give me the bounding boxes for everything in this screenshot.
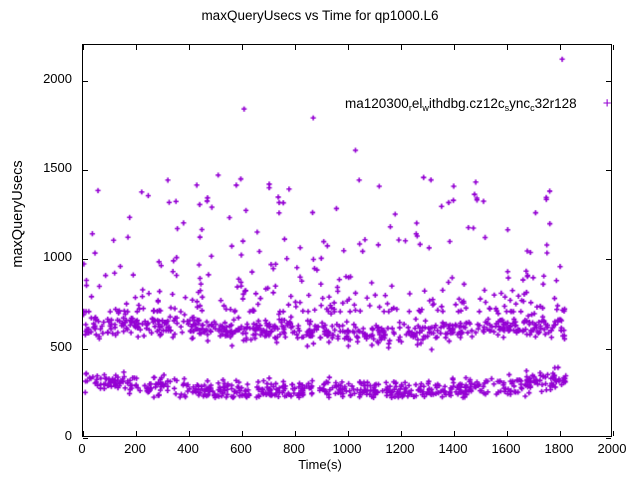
x-tick [242, 431, 243, 436]
x-tick-top [189, 45, 190, 50]
legend-marker-plus-icon: + [603, 96, 612, 111]
x-tick-label: 800 [264, 441, 324, 456]
x-tick-top [348, 45, 349, 50]
y-tick-right [606, 81, 611, 82]
x-tick-label: 200 [105, 441, 165, 456]
x-axis-title: Time(s) [0, 457, 640, 472]
x-tick-label: 1800 [529, 441, 589, 456]
plot-area: ma120300relwithdbg.cz12csyncc32r128 + [82, 44, 612, 437]
y-tick-right [606, 438, 611, 439]
y-tick-label: 0 [12, 428, 72, 443]
legend-series-label: ma120300relwithdbg.cz12csyncc32r128 [345, 96, 577, 111]
x-tick [454, 431, 455, 436]
y-tick-right [606, 259, 611, 260]
y-tick [83, 170, 88, 171]
chart-title: maxQueryUsecs vs Time for qp1000.L6 [0, 8, 640, 23]
y-tick-right [606, 349, 611, 350]
y-tick [83, 259, 88, 260]
x-tick [295, 431, 296, 436]
y-tick-label: 1500 [12, 160, 72, 175]
x-tick-top [295, 45, 296, 50]
x-tick-top [401, 45, 402, 50]
y-tick [83, 438, 88, 439]
x-tick-top [242, 45, 243, 50]
x-tick [83, 431, 84, 436]
y-tick-label: 2000 [12, 71, 72, 86]
x-tick [136, 431, 137, 436]
y-axis-title: maxQueryUsecs [10, 134, 26, 294]
x-tick-label: 1000 [317, 441, 377, 456]
x-tick-top [454, 45, 455, 50]
legend: ma120300relwithdbg.cz12csyncc32r128 + [345, 93, 611, 113]
y-tick [83, 349, 88, 350]
x-tick [560, 431, 561, 436]
x-tick-label: 2000 [582, 441, 640, 456]
y-tick-right [606, 170, 611, 171]
x-tick-label: 1600 [476, 441, 536, 456]
x-tick-top [83, 45, 84, 50]
y-tick [83, 81, 88, 82]
x-tick-top [136, 45, 137, 50]
x-tick-label: 1200 [370, 441, 430, 456]
x-tick-label: 1400 [423, 441, 483, 456]
chart-root: maxQueryUsecs vs Time for qp1000.L6 maxQ… [0, 0, 640, 480]
x-tick [613, 431, 614, 436]
x-tick-label: 400 [158, 441, 218, 456]
x-tick-label: 600 [211, 441, 271, 456]
y-tick-label: 1000 [12, 249, 72, 264]
x-tick-top [613, 45, 614, 50]
y-tick-label: 500 [12, 339, 72, 354]
x-tick [401, 431, 402, 436]
x-tick [189, 431, 190, 436]
x-tick-top [560, 45, 561, 50]
x-tick-top [507, 45, 508, 50]
x-tick-label: 0 [52, 441, 112, 456]
x-tick [507, 431, 508, 436]
x-tick [348, 431, 349, 436]
